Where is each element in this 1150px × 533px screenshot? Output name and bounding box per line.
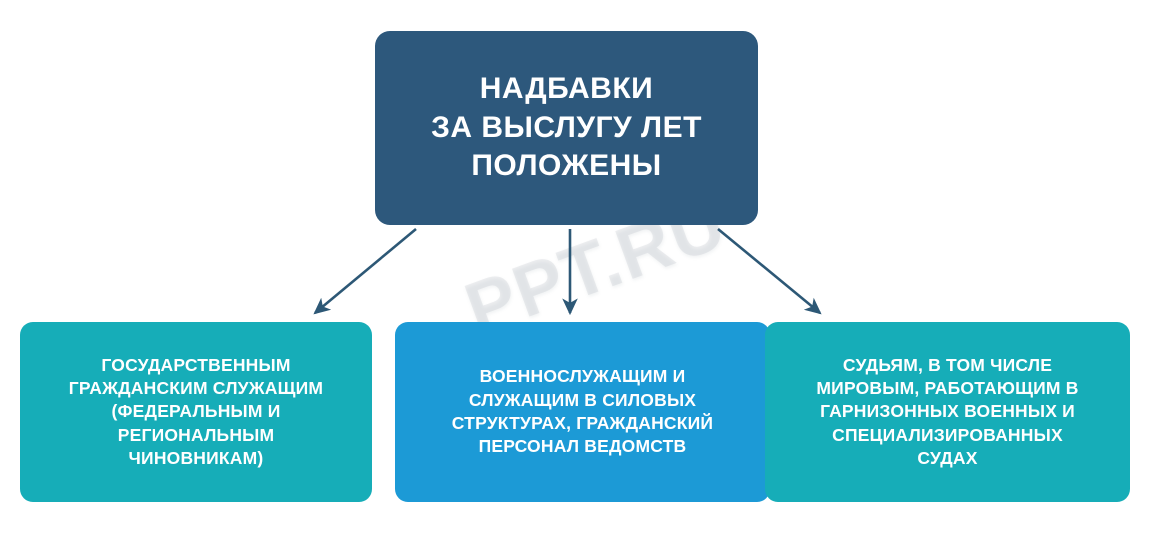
node-judges: СУДЬЯМ, В ТОМ ЧИСЛЕ МИРОВЫМ, РАБОТАЮЩИМ … bbox=[765, 322, 1130, 502]
node-root-label: НАДБАВКИ ЗА ВЫСЛУГУ ЛЕТ ПОЛОЖЕНЫ bbox=[431, 70, 702, 185]
node-military-personnel: ВОЕННОСЛУЖАЩИМ И СЛУЖАЩИМ В СИЛОВЫХ СТРУ… bbox=[395, 322, 770, 502]
node-civil-servants: ГОСУДАРСТВЕННЫМ ГРАЖДАНСКИМ СЛУЖАЩИМ (ФЕ… bbox=[20, 322, 372, 502]
connector-left bbox=[315, 229, 416, 313]
node-civil-servants-label: ГОСУДАРСТВЕННЫМ ГРАЖДАНСКИМ СЛУЖАЩИМ (ФЕ… bbox=[69, 354, 323, 470]
node-military-personnel-label: ВОЕННОСЛУЖАЩИМ И СЛУЖАЩИМ В СИЛОВЫХ СТРУ… bbox=[452, 365, 713, 458]
diagram-canvas: PPT.RU НАДБАВКИ ЗА ВЫСЛУГУ ЛЕТ ПОЛОЖЕНЫ … bbox=[0, 0, 1150, 533]
node-root-benefits-title: НАДБАВКИ ЗА ВЫСЛУГУ ЛЕТ ПОЛОЖЕНЫ bbox=[375, 31, 758, 225]
connector-right bbox=[718, 229, 820, 313]
node-judges-label: СУДЬЯМ, В ТОМ ЧИСЛЕ МИРОВЫМ, РАБОТАЮЩИМ … bbox=[816, 354, 1078, 470]
